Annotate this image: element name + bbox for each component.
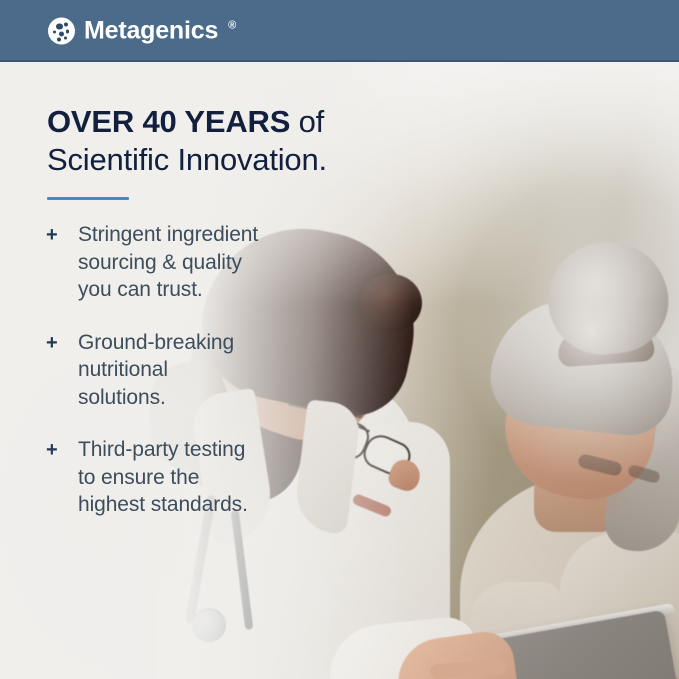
plus-icon: + (44, 221, 78, 249)
headline-line-2: Scientific Innovation. (47, 141, 327, 179)
header-bar: Metagenics ® (0, 0, 679, 62)
list-item: + Ground-breaking nutritional solutions. (44, 329, 364, 412)
plus-icon: + (44, 329, 78, 357)
accent-divider (47, 197, 129, 200)
headline-suffix: of (290, 104, 324, 139)
list-item: + Stringent ingredient sourcing & qualit… (44, 221, 364, 304)
trademark-symbol: ® (228, 21, 236, 32)
list-item-label: Third-party testing to ensure the highes… (78, 436, 248, 519)
list-item: + Third-party testing to ensure the high… (44, 436, 364, 519)
metagenics-ad-card: Metagenics ® OVER 40 YEARS of Scientific… (0, 0, 679, 679)
brand-name: Metagenics (84, 19, 218, 44)
headline: OVER 40 YEARS of Scientific Innovation. (47, 103, 327, 178)
metagenics-dotted-circle-icon (48, 18, 75, 45)
list-item-label: Ground-breaking nutritional solutions. (78, 329, 234, 412)
brand-logo[interactable]: Metagenics ® (48, 18, 236, 45)
benefits-list: + Stringent ingredient sourcing & qualit… (44, 221, 364, 519)
list-item-label: Stringent ingredient sourcing & quality … (78, 221, 258, 304)
headline-line-1: OVER 40 YEARS of (47, 103, 327, 141)
headline-emphasis: OVER 40 YEARS (47, 104, 290, 139)
plus-icon: + (44, 436, 78, 464)
background-soft-blob (459, 182, 679, 482)
